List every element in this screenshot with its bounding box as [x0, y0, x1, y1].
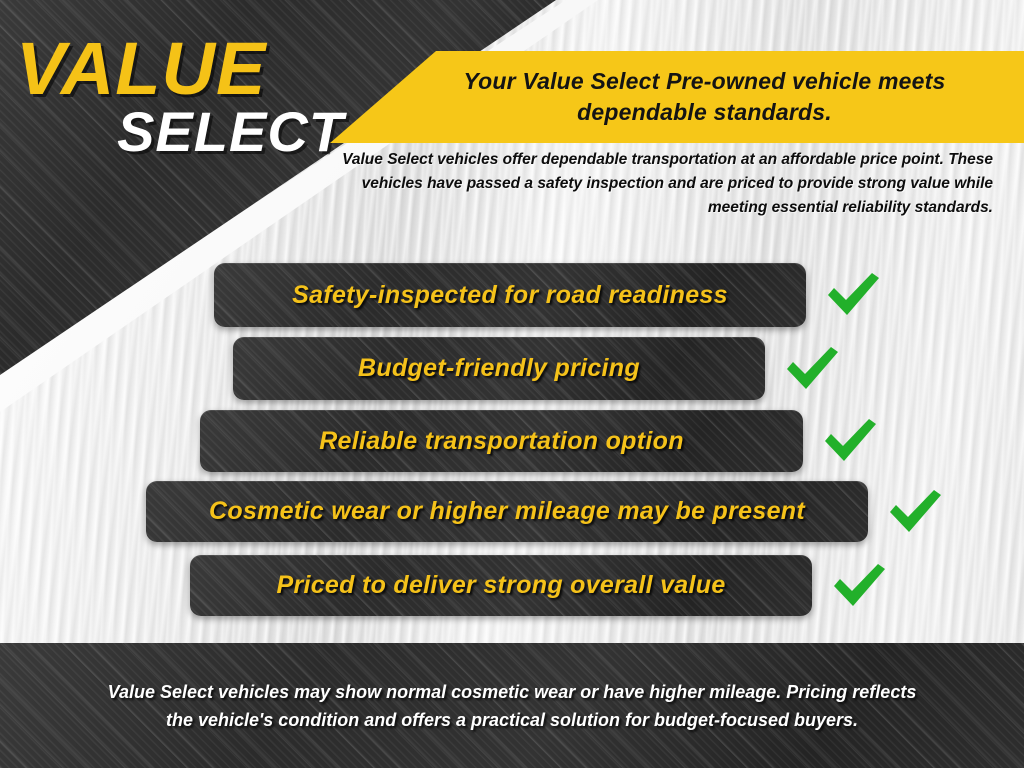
logo-word-value: VALUE	[16, 34, 346, 104]
brand-logo: VALUE SELECT	[16, 34, 346, 160]
feature-row: Priced to deliver strong overall value	[190, 555, 888, 616]
feature-label: Budget-friendly pricing	[332, 354, 666, 383]
check-icon	[821, 415, 879, 467]
headline-banner: Your Value Select Pre-owned vehicle meet…	[330, 51, 1024, 143]
feature-bar: Safety-inspected for road readiness	[214, 263, 806, 327]
logo-word-select: SELECT	[16, 104, 346, 160]
feature-label: Reliable transportation option	[293, 427, 710, 456]
check-icon	[886, 486, 944, 538]
feature-label: Cosmetic wear or higher mileage may be p…	[183, 497, 831, 526]
intro-paragraph: Value Select vehicles offer dependable t…	[325, 148, 993, 220]
footer-band: Value Select vehicles may show normal co…	[0, 643, 1024, 768]
feature-label: Priced to deliver strong overall value	[250, 571, 751, 600]
feature-row: Reliable transportation option	[200, 410, 879, 472]
footer-disclaimer: Value Select vehicles may show normal co…	[97, 678, 927, 734]
check-icon	[830, 560, 888, 612]
feature-bar: Reliable transportation option	[200, 410, 803, 472]
feature-bar: Cosmetic wear or higher mileage may be p…	[146, 481, 868, 542]
feature-bar: Budget-friendly pricing	[233, 337, 765, 400]
check-icon	[783, 343, 841, 395]
feature-label: Safety-inspected for road readiness	[266, 281, 754, 310]
feature-row: Cosmetic wear or higher mileage may be p…	[146, 481, 944, 542]
feature-row: Safety-inspected for road readiness	[214, 263, 882, 327]
feature-bar: Priced to deliver strong overall value	[190, 555, 812, 616]
feature-row: Budget-friendly pricing	[233, 337, 841, 400]
promo-graphic: VALUE SELECT Your Value Select Pre-owned…	[0, 0, 1024, 768]
headline-text: Your Value Select Pre-owned vehicle meet…	[405, 66, 1005, 128]
check-icon	[824, 269, 882, 321]
